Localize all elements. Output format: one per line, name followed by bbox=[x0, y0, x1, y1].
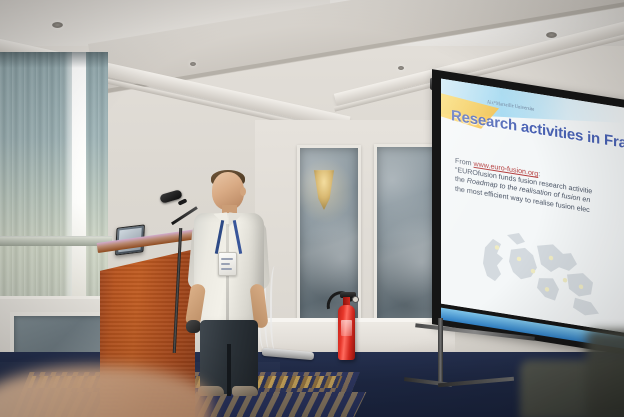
fire-extinguisher-gauge bbox=[352, 296, 359, 303]
slide-body-prefix: the bbox=[455, 175, 467, 185]
projection-screen-surface: Aix*Marseille Universite Research activi… bbox=[441, 79, 624, 335]
presentation-slide: Aix*Marseille Universite Research activi… bbox=[441, 79, 624, 335]
presenter-trouser-seam bbox=[227, 344, 231, 396]
curtain-hem bbox=[0, 236, 112, 246]
curtain-rod-shadow bbox=[0, 52, 108, 68]
badge-text-line bbox=[221, 268, 232, 270]
curtain-left bbox=[0, 52, 74, 302]
ceiling-spotlight-icon bbox=[546, 32, 557, 38]
projection-screen: Aix*Marseille Universite Research activi… bbox=[432, 69, 624, 356]
slide-body-suffix: : bbox=[538, 170, 540, 178]
badge-text-line bbox=[221, 263, 230, 265]
window-with-curtains bbox=[0, 52, 108, 302]
presentation-clicker[interactable] bbox=[186, 320, 201, 333]
conference-badge bbox=[218, 252, 237, 276]
curtain-right bbox=[86, 52, 108, 302]
projection-screen-pole bbox=[438, 318, 443, 386]
audience-chair bbox=[586, 330, 624, 417]
ceiling-spotlight-icon bbox=[190, 62, 196, 66]
baseboard-highlight bbox=[255, 318, 455, 322]
ceiling-spotlight-icon bbox=[52, 22, 63, 28]
europe-map-image bbox=[467, 215, 617, 331]
presenter-ear bbox=[240, 187, 246, 196]
slide-body-text: From www.euro-fusion.org: “EUROfusion fu… bbox=[455, 157, 624, 223]
badge-text-line bbox=[221, 258, 233, 260]
ceiling-spotlight-icon bbox=[398, 66, 404, 70]
photograph-scene: Aix*Marseille Universite Research activi… bbox=[0, 0, 624, 417]
presenter bbox=[190, 172, 282, 388]
fire-extinguisher-label bbox=[341, 320, 352, 336]
presenter-shoe bbox=[232, 386, 258, 396]
